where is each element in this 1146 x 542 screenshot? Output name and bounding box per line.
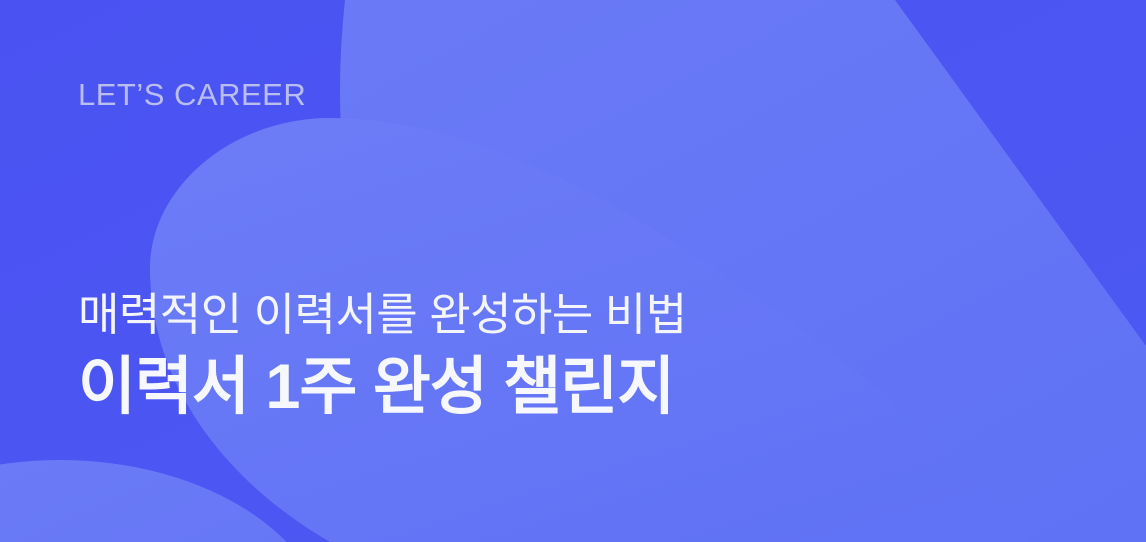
promo-banner: LET’S CAREER 매력적인 이력서를 완성하는 비법 이력서 1주 완성…: [0, 0, 1146, 542]
headline-block: 매력적인 이력서를 완성하는 비법 이력서 1주 완성 챌린지: [78, 288, 1078, 424]
brand-eyebrow: LET’S CAREER: [78, 76, 306, 113]
headline-title: 이력서 1주 완성 챌린지: [78, 351, 1078, 423]
banner-content: LET’S CAREER 매력적인 이력서를 완성하는 비법 이력서 1주 완성…: [0, 0, 1146, 542]
headline-subtitle: 매력적인 이력서를 완성하는 비법: [78, 288, 1078, 341]
